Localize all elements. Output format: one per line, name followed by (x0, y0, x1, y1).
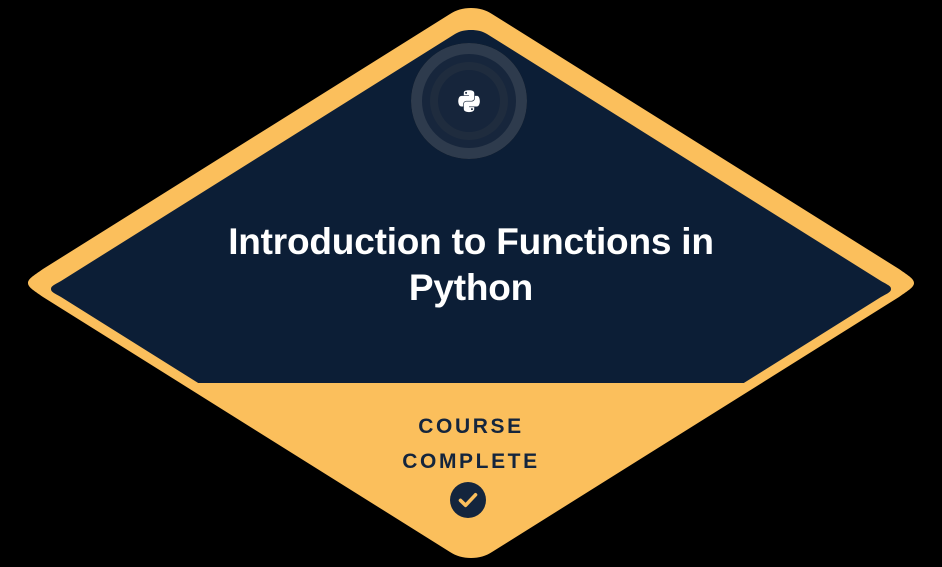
check-circle-icon (450, 482, 486, 518)
logo-disc-core (438, 70, 500, 132)
course-completion-badge: Introduction to Functions in Python COUR… (0, 0, 942, 567)
